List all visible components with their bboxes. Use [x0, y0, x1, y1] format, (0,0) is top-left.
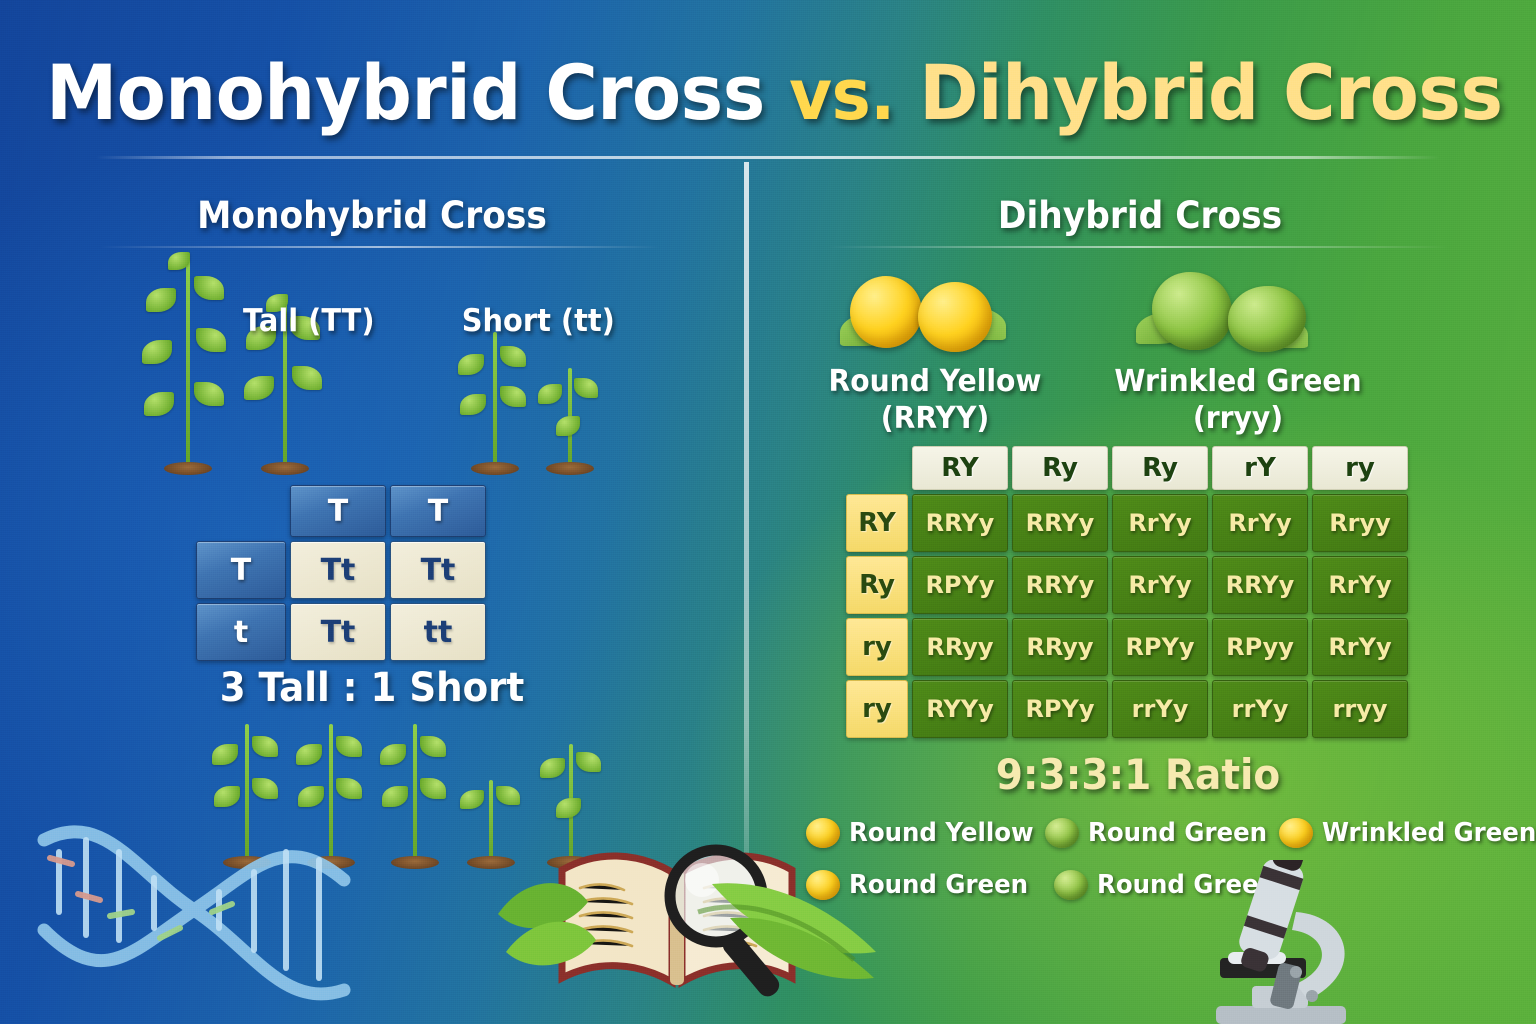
page-title: Monohybrid Cross vs. Dihybrid Cross — [46, 48, 1490, 137]
punnett-di-cell-1-0: RPYy — [912, 556, 1008, 614]
legend-item-round-green-3: Round Green — [1054, 870, 1288, 900]
legend-label-round-yellow: Round Yellow — [849, 818, 1034, 848]
title-divider-rule — [96, 156, 1440, 159]
parent-label-tall: Tall (TT) — [243, 303, 375, 339]
title-left-text: Monohybrid Cross — [46, 48, 765, 137]
punnett-di-cell-1-1: RRYy — [1012, 556, 1108, 614]
punnett-di-col-header-3: rY — [1212, 446, 1308, 490]
offspring-plant-2 — [300, 724, 362, 864]
punnett-mono-col-header-1: T — [390, 485, 486, 537]
short-pea-plant-icon — [462, 332, 528, 470]
punnett-di-col-header-4: ry — [1312, 446, 1408, 490]
parent-label-round-yellow-line1: Round Yellow — [818, 364, 1053, 401]
punnett-di-cell-2-2: RPYy — [1112, 618, 1208, 676]
punnett-di-cell-3-4: rryy — [1312, 680, 1408, 738]
punnett-di-row-header-1: Ry — [846, 556, 908, 614]
legend-label-round-green-3: Round Green — [1097, 870, 1276, 900]
punnett-di-cell-0-4: Rryy — [1312, 494, 1408, 552]
yellow-pea-swatch-icon-2 — [1279, 818, 1313, 848]
punnett-square-monohybrid: T T T Tt Tt t Tt tt — [196, 485, 486, 661]
dihybrid-heading-rule — [828, 246, 1448, 248]
tall-pea-plant-icon — [150, 258, 226, 470]
offspring-plant-5 — [542, 744, 600, 864]
parent-label-wrinkled-green: Wrinkled Green (rryy) — [1106, 364, 1369, 437]
punnett-mono-row-header-1: t — [196, 603, 286, 661]
title-vs-text: vs. — [789, 54, 895, 136]
punnett-di-corner — [846, 446, 908, 490]
punnett-di-cell-0-0: RRYy — [912, 494, 1008, 552]
punnett-di-cell-2-1: RRyy — [1012, 618, 1108, 676]
parent-label-short: Short (tt) — [462, 303, 615, 339]
magnifying-glass-icon — [648, 836, 808, 1006]
offspring-plant-4 — [462, 780, 520, 864]
punnett-mono-cell-0-0: Tt — [290, 541, 386, 599]
punnett-di-cell-2-4: RrYy — [1312, 618, 1408, 676]
punnett-di-row-header-2: ry — [846, 618, 908, 676]
short-pea-plant-icon-2 — [540, 368, 600, 470]
punnett-di-col-header-1: Ry — [1012, 446, 1108, 490]
punnett-di-cell-3-1: RPYy — [1012, 680, 1108, 738]
dihybrid-legend: Round Yellow Round Green Wrinkled Green … — [806, 812, 1506, 906]
legend-item-round-green-2: Round Green — [806, 870, 1054, 900]
legend-label-round-green: Round Green — [1088, 818, 1267, 848]
punnett-di-row-header-3: ry — [846, 680, 908, 738]
punnett-di-cell-1-4: RrYy — [1312, 556, 1408, 614]
punnett-mono-cell-1-0: Tt — [290, 603, 386, 661]
green-pea-swatch-icon — [1045, 818, 1079, 848]
yellow-pea-swatch-icon — [806, 818, 840, 848]
punnett-di-cell-0-3: RrYy — [1212, 494, 1308, 552]
parent-label-round-yellow-line2: (RRYY) — [818, 401, 1053, 438]
legend-row-1: Round Yellow Round Green Wrinkled Green — [806, 812, 1506, 854]
punnett-di-col-header-0: RY — [912, 446, 1008, 490]
punnett-di-cell-2-0: RRyy — [912, 618, 1008, 676]
wrinkled-green-peas-icon — [1136, 268, 1332, 360]
punnett-mono-cell-1-1: tt — [390, 603, 486, 661]
legend-label-wrinkled-green: Wrinkled Green — [1322, 818, 1536, 848]
parent-label-wrinkled-green-line2: (rryy) — [1106, 401, 1369, 438]
dihybrid-ratio-label: 9:3:3:1 Ratio — [866, 750, 1409, 799]
punnett-di-col-header-2: Ry — [1112, 446, 1208, 490]
legend-row-2: Round Green Round Green — [806, 864, 1506, 906]
infographic-canvas: Monohybrid Cross vs. Dihybrid Cross Mono… — [0, 0, 1536, 1024]
panel-divider — [744, 162, 749, 962]
punnett-di-cell-3-2: rrYy — [1112, 680, 1208, 738]
punnett-di-cell-3-3: rrYy — [1212, 680, 1308, 738]
legend-label-round-green-2: Round Green — [849, 870, 1028, 900]
parent-label-round-yellow: Round Yellow (RRYY) — [818, 364, 1053, 437]
legend-item-wrinkled-green: Wrinkled Green — [1279, 818, 1536, 848]
punnett-mono-cell-0-1: Tt — [390, 541, 486, 599]
section-heading-dihybrid: Dihybrid Cross — [772, 194, 1509, 237]
parent-label-wrinkled-green-line1: Wrinkled Green — [1106, 364, 1369, 401]
offspring-plant-3 — [384, 724, 446, 864]
legend-item-round-yellow: Round Yellow — [806, 818, 1045, 848]
punnett-di-cell-1-3: RRYy — [1212, 556, 1308, 614]
punnett-mono-col-header-0: T — [290, 485, 386, 537]
punnett-mono-corner — [196, 485, 286, 537]
green-pea-swatch-icon-2 — [1054, 870, 1088, 900]
section-heading-monohybrid: Monohybrid Cross — [26, 194, 718, 237]
monohybrid-ratio-label: 3 Tall : 1 Short — [26, 665, 718, 711]
punnett-di-cell-1-2: RrYy — [1112, 556, 1208, 614]
legend-item-round-green: Round Green — [1045, 818, 1279, 848]
title-right-text: Dihybrid Cross — [919, 48, 1502, 137]
punnett-di-cell-0-2: RrYy — [1112, 494, 1208, 552]
punnett-di-cell-2-3: RPyy — [1212, 618, 1308, 676]
punnett-di-row-header-0: RY — [846, 494, 908, 552]
yellow-pea-swatch-icon-3 — [806, 870, 840, 900]
offspring-plant-1 — [216, 724, 278, 864]
punnett-di-cell-0-1: RRYy — [1012, 494, 1108, 552]
punnett-di-cell-3-0: RYYy — [912, 680, 1008, 738]
monohybrid-heading-rule — [100, 246, 660, 248]
punnett-mono-row-header-0: T — [196, 541, 286, 599]
round-yellow-peas-icon — [836, 268, 1026, 360]
punnett-square-dihybrid: RY Ry Ry rY ry RY RRYy RRYy RrYy RrYy Rr… — [846, 446, 1408, 738]
